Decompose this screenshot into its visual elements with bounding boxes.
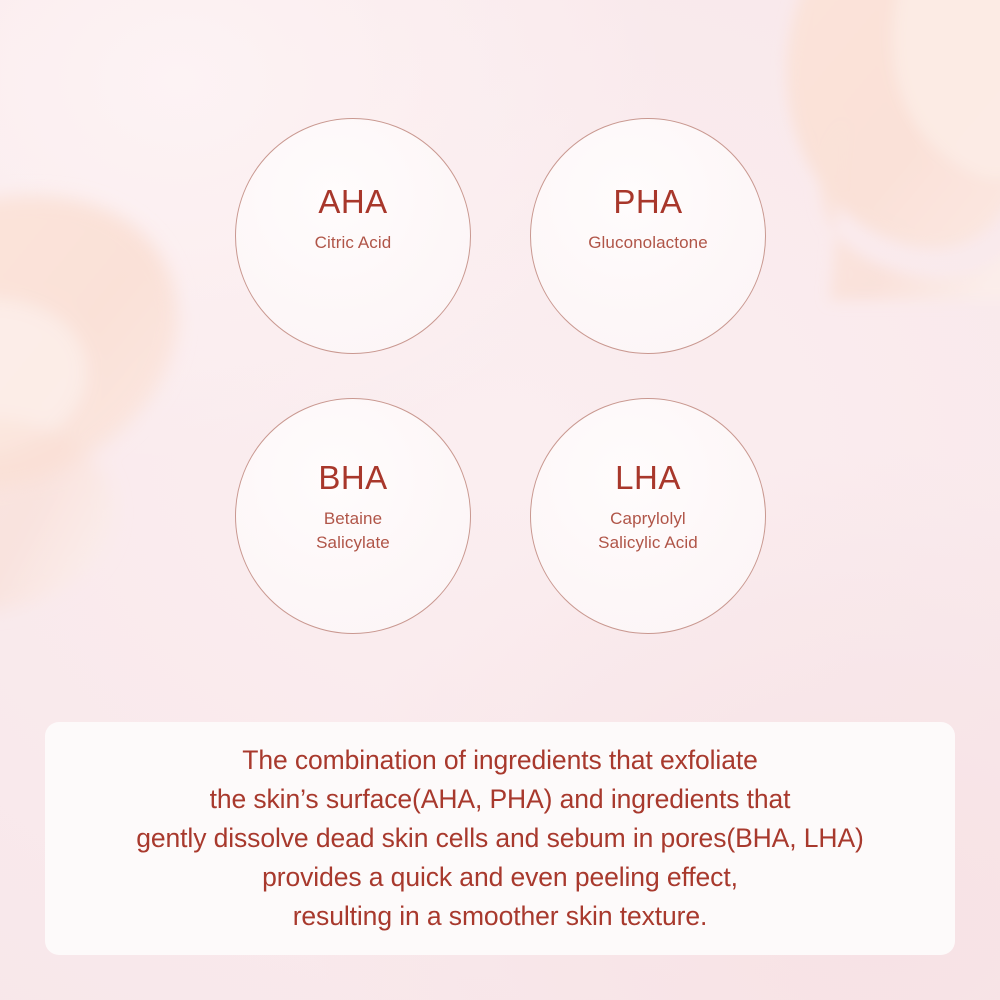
acid-subtitle-aha: Citric Acid [315,231,392,255]
acid-circle-pha: PHA Gluconolactone [530,118,766,354]
caption-line-5: resulting in a smoother skin texture. [59,897,941,936]
acid-text-stack: AHA Citric Acid [315,185,392,255]
acid-subtitle-lha-line1: Caprylolyl [598,507,698,531]
caption-line-4: provides a quick and even peeling effect… [59,858,941,897]
acid-subtitle-bha-line1: Betaine [316,507,390,531]
acid-circle-lha: LHA Caprylolyl Salicylic Acid [530,398,766,634]
caption-line-1: The combination of ingredients that exfo… [59,741,941,780]
caption-text: The combination of ingredients that exfo… [45,741,955,936]
caption-panel: The combination of ingredients that exfo… [45,722,955,955]
acid-title-lha: LHA [598,461,698,494]
acid-circle-grid: AHA Citric Acid PHA Gluconolactone BHA B… [0,0,1000,700]
caption-line-3: gently dissolve dead skin cells and sebu… [59,819,941,858]
acid-title-bha: BHA [316,461,390,494]
acid-text-stack: LHA Caprylolyl Salicylic Acid [598,461,698,555]
acid-circle-aha: AHA Citric Acid [235,118,471,354]
acid-subtitle-lha-line2: Salicylic Acid [598,531,698,555]
infographic-canvas: AHA Citric Acid PHA Gluconolactone BHA B… [0,0,1000,1000]
acid-text-stack: PHA Gluconolactone [588,185,708,255]
acid-text-stack: BHA Betaine Salicylate [316,461,390,555]
acid-subtitle-pha: Gluconolactone [588,231,708,255]
acid-title-aha: AHA [315,185,392,218]
acid-title-pha: PHA [588,185,708,218]
acid-subtitle-bha-line2: Salicylate [316,531,390,555]
acid-circle-bha: BHA Betaine Salicylate [235,398,471,634]
caption-line-2: the skin’s surface(AHA, PHA) and ingredi… [59,780,941,819]
